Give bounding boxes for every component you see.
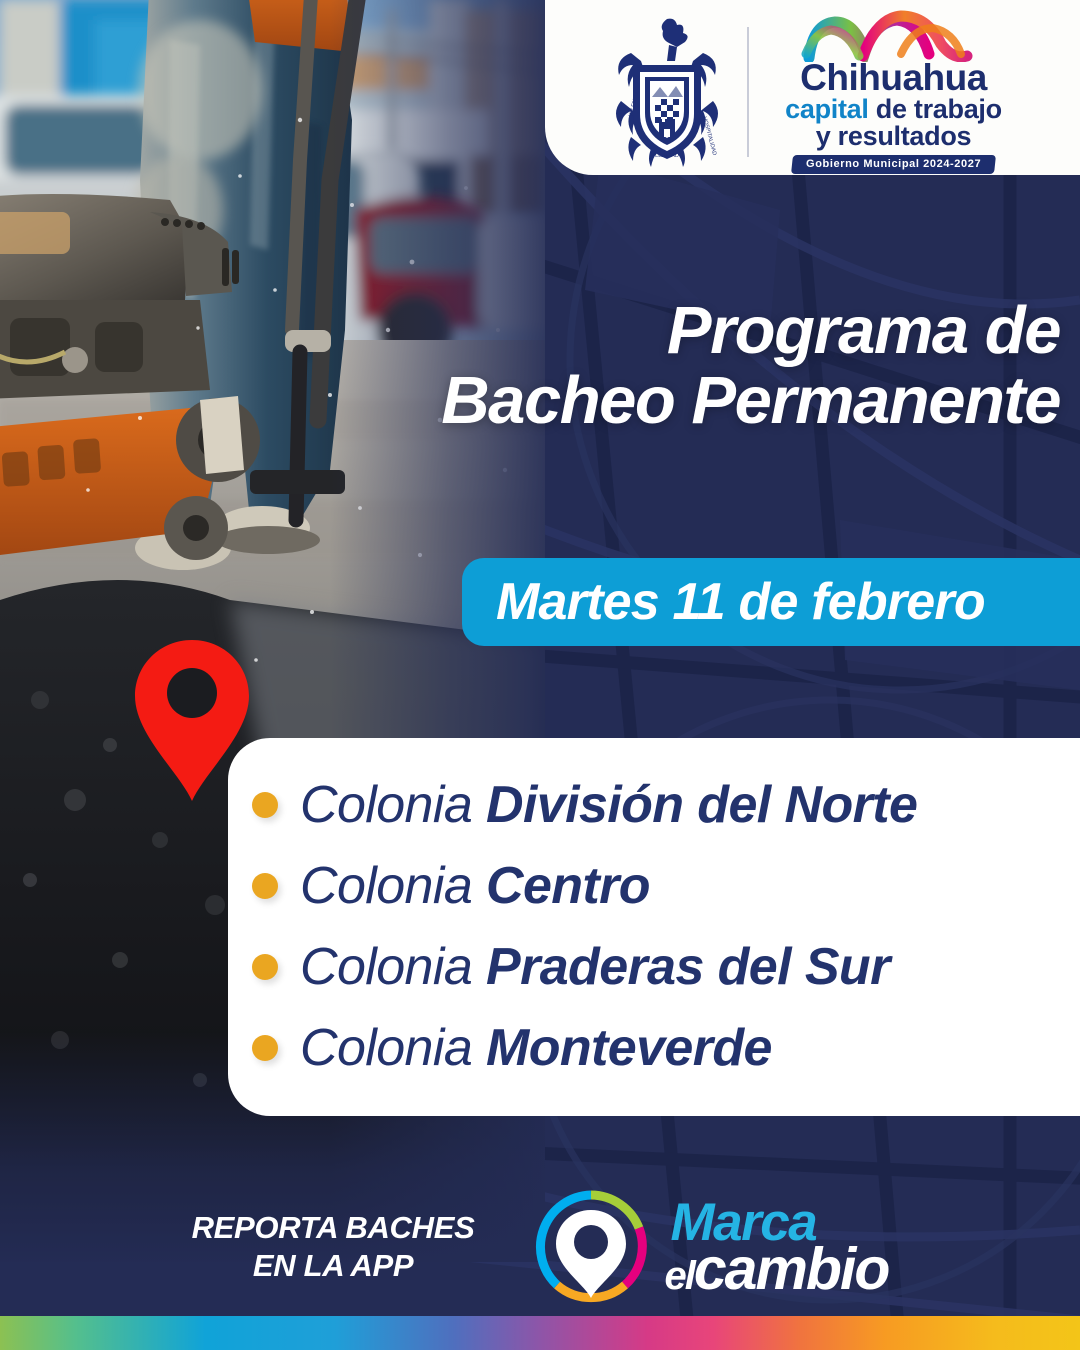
colonia-name: Praderas del Sur [486,938,890,996]
chihuahua-brand: Chihuahua capital de trabajo y resultado… [769,10,1019,173]
colonia-name: Monteverde [486,1019,772,1077]
brand-tagline-1: capital de trabajo [785,96,1002,123]
el-word: el [664,1254,693,1298]
svg-text:S.FELIPE EL REAL: S.FELIPE EL REAL [636,66,697,72]
brand-trabajo-word: de trabajo [869,94,1002,124]
colonias-list: Colonia División del Norte Colonia Centr… [252,764,1080,1088]
rainbow-stripe [0,1316,1080,1350]
poster-root: S.FELIPE EL REAL VALENTIA LEALTAD HOSPIT… [0,0,1080,1350]
marca-el-cambio-logo: Marca elcambio [532,1188,888,1306]
chihuahua-wave-icon [801,10,986,62]
brand-period-badge: Gobierno Municipal 2024-2027 [791,155,996,174]
list-item: Colonia División del Norte [252,764,1080,845]
brand-capital-word: capital [785,94,868,124]
cta-line-2: EN LA APP [192,1247,475,1285]
colonia-text: Colonia Praderas del Sur [300,937,890,997]
list-item: Colonia Monteverde [252,1007,1080,1088]
list-item: Colonia Praderas del Sur [252,926,1080,1007]
title-line-2: Bacheo Permanente [430,366,1060,436]
header-logo-plate: S.FELIPE EL REAL VALENTIA LEALTAD HOSPIT… [545,0,1080,175]
footer: REPORTA BACHES EN LA APP Marca elcambio [0,1182,1080,1312]
colonias-card: Colonia División del Norte Colonia Centr… [228,738,1080,1116]
brand-tagline-2: y resultados [816,123,971,150]
cambio-word: cambio [694,1236,889,1302]
page-title: Programa de Bacheo Permanente [430,296,1060,437]
date-banner: Martes 11 de febrero [462,558,1080,646]
bullet-icon [252,792,278,818]
list-item: Colonia Centro [252,845,1080,926]
municipal-crest-icon: S.FELIPE EL REAL VALENTIA LEALTAD HOSPIT… [607,17,727,167]
marca-wordmark: Marca elcambio [664,1201,888,1293]
date-text: Martes 11 de febrero [496,572,985,632]
colonia-lead: Colonia [300,857,486,915]
colonia-lead: Colonia [300,776,486,834]
title-line-1: Programa de [430,296,1060,366]
colonia-text: Colonia Centro [300,856,650,916]
colonia-lead: Colonia [300,1019,486,1077]
logo-divider [747,27,749,157]
bullet-icon [252,954,278,980]
marca-pin-icon [532,1188,650,1306]
report-cta: REPORTA BACHES EN LA APP [192,1209,475,1285]
bullet-icon [252,873,278,899]
brand-chihuahua: Chihuahua [800,60,987,95]
svg-text:LEALTAD: LEALTAD [655,153,679,159]
colonia-lead: Colonia [300,938,486,996]
colonia-name: Centro [486,857,650,915]
cta-line-1: REPORTA BACHES [192,1209,475,1247]
colonia-name: División del Norte [486,776,917,834]
el-cambio-word: elcambio [664,1245,888,1293]
colonia-text: Colonia Monteverde [300,1018,772,1078]
bullet-icon [252,1035,278,1061]
colonia-text: Colonia División del Norte [300,775,917,835]
